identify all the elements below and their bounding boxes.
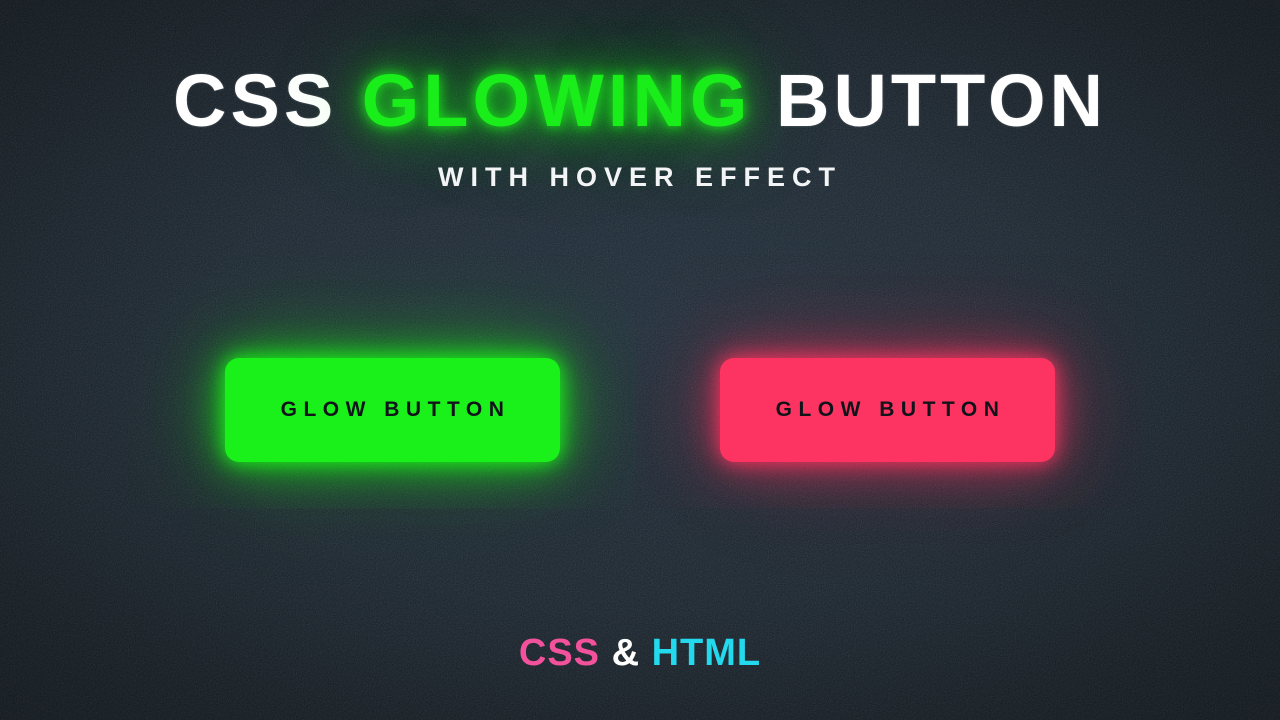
title-word-css: CSS [173,59,337,142]
glow-button-green[interactable]: GLOW BUTTON [225,358,560,462]
credit-html: HTML [652,632,762,674]
title-word-button: BUTTON [776,59,1107,142]
stage-background: CSS GLOWING BUTTON WITH HOVER EFFECT GLO… [0,0,1280,720]
buttons-row: GLOW BUTTON GLOW BUTTON [0,358,1280,462]
title-word-glowing: GLOWING [362,59,752,142]
credit-space-1 [600,632,612,674]
title-block: CSS GLOWING BUTTON WITH HOVER EFFECT [0,62,1280,193]
title-space-1 [337,59,362,142]
glow-button-pink-hover[interactable]: GLOW BUTTON [720,358,1055,462]
credit-ampersand: & [612,632,640,674]
page-title: CSS GLOWING BUTTON [0,62,1280,140]
credit-css: CSS [519,632,600,674]
title-space-2 [751,59,776,142]
glow-button-pink-label: GLOW BUTTON [776,398,1006,422]
credit-line: CSS & HTML [0,632,1280,675]
page-subtitle: WITH HOVER EFFECT [0,162,1280,193]
credit-space-2 [640,632,652,674]
glow-button-green-label: GLOW BUTTON [281,398,511,422]
